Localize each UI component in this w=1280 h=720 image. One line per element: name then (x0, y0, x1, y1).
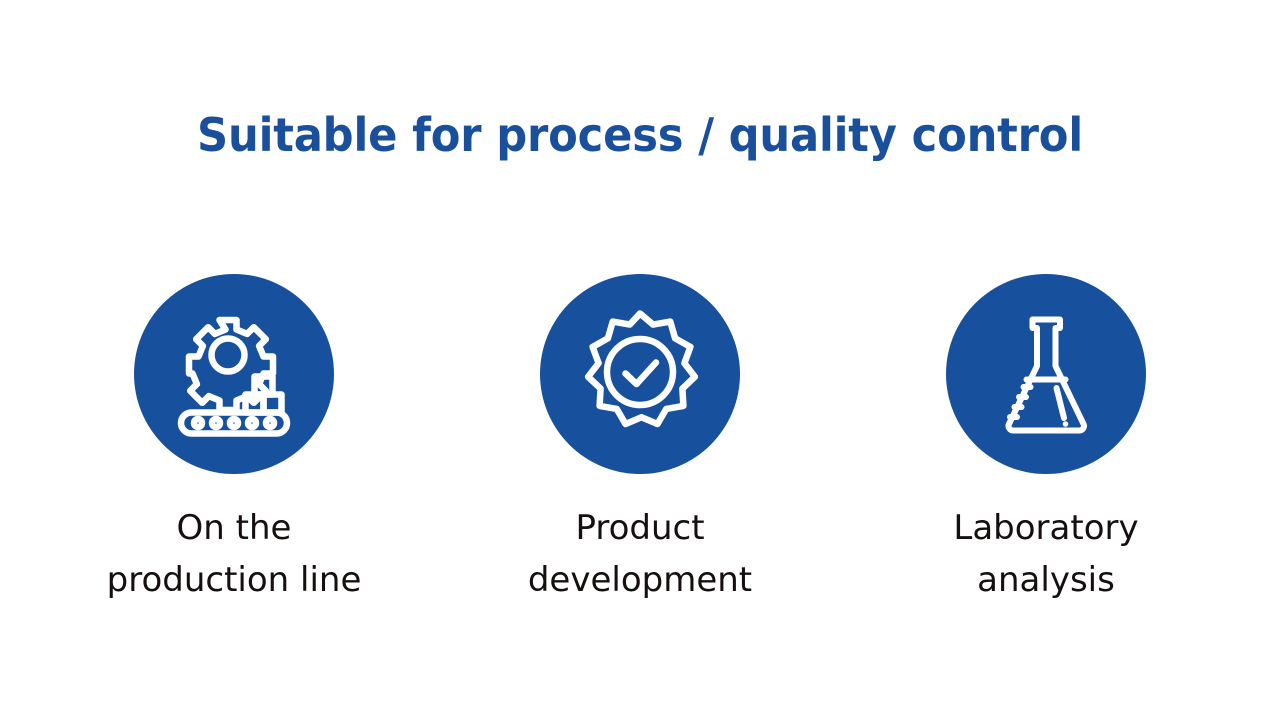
feature-card-laboratory-analysis[interactable]: Laboratory analysis (843, 274, 1249, 606)
feature-card-label: Product development (475, 502, 805, 606)
feature-card-product-development[interactable]: Product development (437, 274, 843, 606)
quality-badge-check-icon (570, 304, 710, 444)
feature-card-list: On the production line Product developme… (0, 274, 1280, 606)
icon-badge-production-line (134, 274, 334, 474)
feature-card-label: Laboratory analysis (881, 502, 1211, 606)
icon-badge-product-development (540, 274, 740, 474)
laboratory-flask-icon (976, 304, 1116, 444)
slide-canvas: Suitable for process / quality control (0, 0, 1280, 720)
feature-card-label: On the production line (69, 502, 399, 606)
feature-card-production-line[interactable]: On the production line (31, 274, 437, 606)
gear-conveyor-icon (164, 304, 304, 444)
page-title: Suitable for process / quality control (38, 108, 1241, 162)
icon-badge-laboratory-analysis (946, 274, 1146, 474)
